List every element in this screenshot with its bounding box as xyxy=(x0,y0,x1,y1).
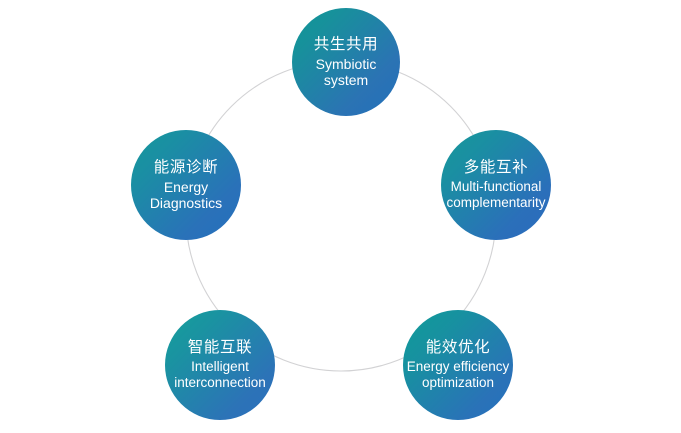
node-label-cn: 智能互联 xyxy=(188,339,252,357)
node-energy-diagnostics[interactable]: 能源诊断 Energy Diagnostics xyxy=(131,130,241,240)
node-label-en-line1: Intelligent xyxy=(191,359,249,375)
node-label-en-line2: interconnection xyxy=(174,375,266,391)
node-label-en-line1: Symbiotic xyxy=(316,56,377,72)
node-label-cn: 能效优化 xyxy=(426,339,490,357)
node-label-en-line2: Diagnostics xyxy=(150,195,222,211)
node-intelligent-interconnection[interactable]: 智能互联 Intelligent interconnection xyxy=(165,310,275,420)
diagram-canvas: 共生共用 Symbiotic system 多能互补 Multi-functio… xyxy=(0,0,681,433)
node-label-en-line1: Energy xyxy=(164,179,208,195)
node-label-en-line1: Multi-functional xyxy=(451,179,542,195)
node-label-en-line1: Energy efficiency xyxy=(407,359,510,375)
node-multi-functional-complementarity[interactable]: 多能互补 Multi-functional complementarity xyxy=(441,130,551,240)
node-label-cn: 多能互补 xyxy=(464,159,528,177)
node-label-en-line2: complementarity xyxy=(446,195,545,211)
node-energy-efficiency-optimization[interactable]: 能效优化 Energy efficiency optimization xyxy=(403,310,513,420)
node-label-cn: 共生共用 xyxy=(314,36,378,54)
node-label-cn: 能源诊断 xyxy=(154,159,218,177)
node-label-en-line2: system xyxy=(324,72,368,88)
node-label-en-line2: optimization xyxy=(422,375,494,391)
node-symbiotic-system[interactable]: 共生共用 Symbiotic system xyxy=(292,8,400,116)
